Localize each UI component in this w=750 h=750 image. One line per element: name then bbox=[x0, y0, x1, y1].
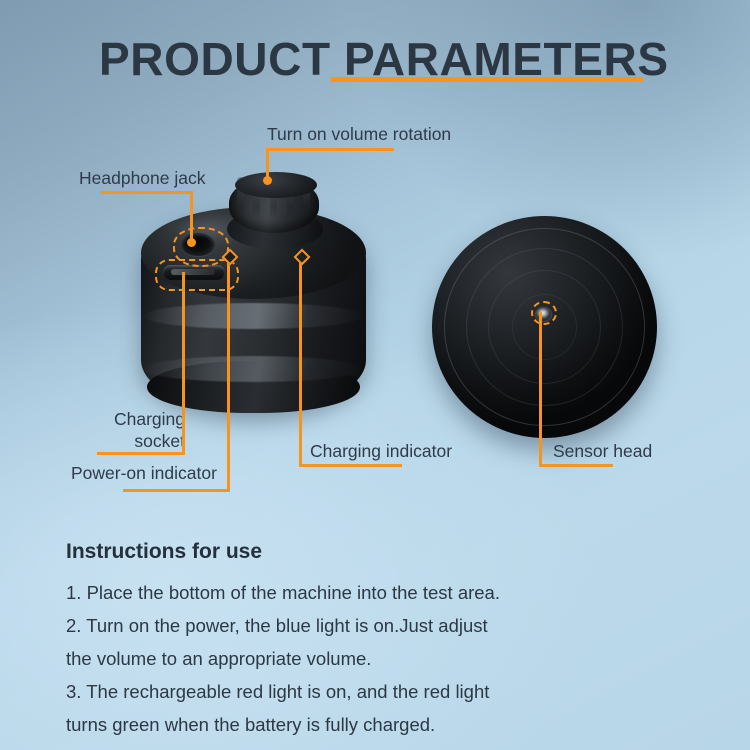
instruction-line-3: the volume to an appropriate volume. bbox=[66, 642, 626, 675]
callout-label-charging-socket: Charging socket bbox=[85, 408, 185, 452]
instructions-section: Instructions for use 1. Place the bottom… bbox=[66, 540, 626, 741]
sensor-head-highlight-ring bbox=[531, 301, 557, 325]
instructions-heading: Instructions for use bbox=[66, 540, 626, 564]
callout-label-power-on-indicator: Power-on indicator bbox=[71, 463, 217, 484]
callout-line-sensor-head-vertical bbox=[539, 312, 542, 467]
product-parameters-page: PRODUCT PARAMETERS Headpho bbox=[0, 0, 750, 750]
callout-line-charging-socket-vertical bbox=[182, 272, 185, 455]
callout-line-volume-rotation-horizontal bbox=[266, 148, 394, 151]
callout-label-charging-socket-line2: socket bbox=[85, 430, 185, 452]
device-seam-ring-lower bbox=[143, 356, 364, 382]
device-side-view bbox=[141, 185, 366, 417]
callout-line-headphone-jack-vertical bbox=[190, 191, 193, 243]
callout-label-charging-socket-line1: Charging bbox=[85, 408, 185, 430]
callout-line-charging-socket-horizontal bbox=[97, 452, 185, 455]
callout-line-power-on-indicator-horizontal bbox=[123, 489, 230, 492]
callout-line-headphone-jack-horizontal bbox=[100, 191, 193, 194]
callout-dot-headphone-jack bbox=[187, 238, 196, 247]
instruction-line-2: 2. Turn on the power, the blue light is … bbox=[66, 609, 626, 642]
title-underline-accent bbox=[331, 77, 643, 82]
instruction-line-1: 1. Place the bottom of the machine into … bbox=[66, 576, 626, 609]
instruction-line-5: turns green when the battery is fully ch… bbox=[66, 708, 626, 741]
callout-line-power-on-indicator-vertical bbox=[227, 258, 230, 492]
callout-line-sensor-head-horizontal bbox=[539, 464, 613, 467]
device-seam-ring-upper bbox=[143, 303, 364, 329]
callout-label-sensor-head: Sensor head bbox=[553, 441, 652, 462]
callout-label-charging-indicator: Charging indicator bbox=[310, 441, 452, 462]
page-title-block: PRODUCT PARAMETERS bbox=[99, 33, 699, 91]
callout-label-headphone-jack: Headphone jack bbox=[79, 168, 205, 189]
callout-label-volume-rotation: Turn on volume rotation bbox=[267, 124, 451, 145]
callout-dot-volume-rotation bbox=[263, 176, 272, 185]
callout-line-charging-indicator-horizontal bbox=[299, 464, 402, 467]
instruction-line-4: 3. The rechargeable red light is on, and… bbox=[66, 675, 626, 708]
callout-line-charging-indicator-vertical bbox=[299, 258, 302, 467]
volume-knob-top[interactable] bbox=[235, 172, 317, 198]
device-bottom-view bbox=[432, 216, 657, 438]
